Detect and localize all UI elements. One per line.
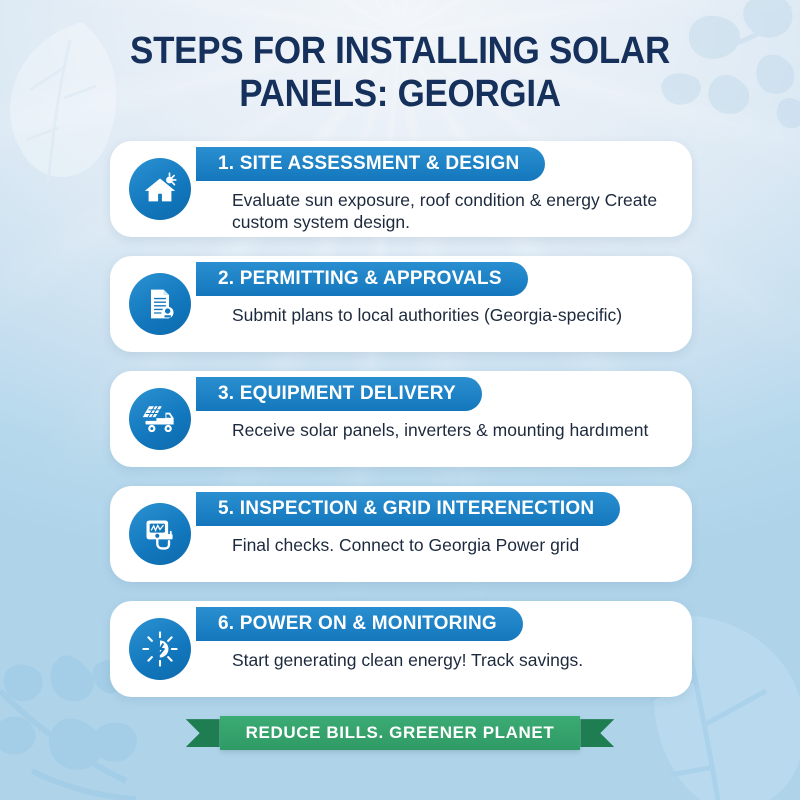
- house-sun-icon: [129, 158, 191, 220]
- steps-list: 1. SITE ASSESSMENT & DESIGN Evaluate sun…: [0, 141, 800, 697]
- step-description-5: Start generating clean energy! Track sav…: [232, 649, 658, 671]
- meter-plug-icon: [129, 503, 191, 565]
- step-item-1: 1. SITE ASSESSMENT & DESIGN Evaluate sun…: [110, 141, 692, 237]
- step-heading-4: 5. INSPECTION & GRID INTERENECTION: [196, 492, 620, 526]
- ribbon-banner: REDUCE BILLS. GREENER PLANET: [0, 716, 800, 750]
- step-description-4: Final checks. Connect to Georgia Power g…: [232, 534, 658, 556]
- step-heading-1: 1. SITE ASSESSMENT & DESIGN: [196, 147, 545, 181]
- step-description-1: Evaluate sun exposure, roof condition & …: [232, 189, 658, 233]
- step-item-2: 2. PERMITTING & APPROVALS Submit plans t…: [110, 256, 692, 352]
- step-item-5: 6. POWER ON & MONITORING Start generatin…: [110, 601, 692, 697]
- step-item-4: 5. INSPECTION & GRID INTERENECTION Final…: [110, 486, 692, 582]
- infographic-poster: STEPS FOR INSTALLING SOLAR PANELS: GEORG…: [0, 0, 800, 800]
- document-seal-icon: [129, 273, 191, 335]
- ribbon-tail-right: [580, 719, 614, 747]
- ribbon-label: REDUCE BILLS. GREENER PLANET: [220, 716, 581, 750]
- sun-icon: [129, 618, 191, 680]
- ribbon-tail-left: [186, 719, 220, 747]
- page-title: STEPS FOR INSTALLING SOLAR PANELS: GEORG…: [32, 0, 768, 115]
- step-description-3: Receive solar panels, inverters & mounti…: [232, 419, 658, 441]
- step-item-3: 3. EQUIPMENT DELIVERY Receive solar pane…: [110, 371, 692, 467]
- step-heading-5: 6. POWER ON & MONITORING: [196, 607, 523, 641]
- step-description-2: Submit plans to local authorities (Georg…: [232, 304, 658, 326]
- step-heading-2: 2. PERMITTING & APPROVALS: [196, 262, 528, 296]
- step-heading-3: 3. EQUIPMENT DELIVERY: [196, 377, 482, 411]
- solar-truck-icon: [129, 388, 191, 450]
